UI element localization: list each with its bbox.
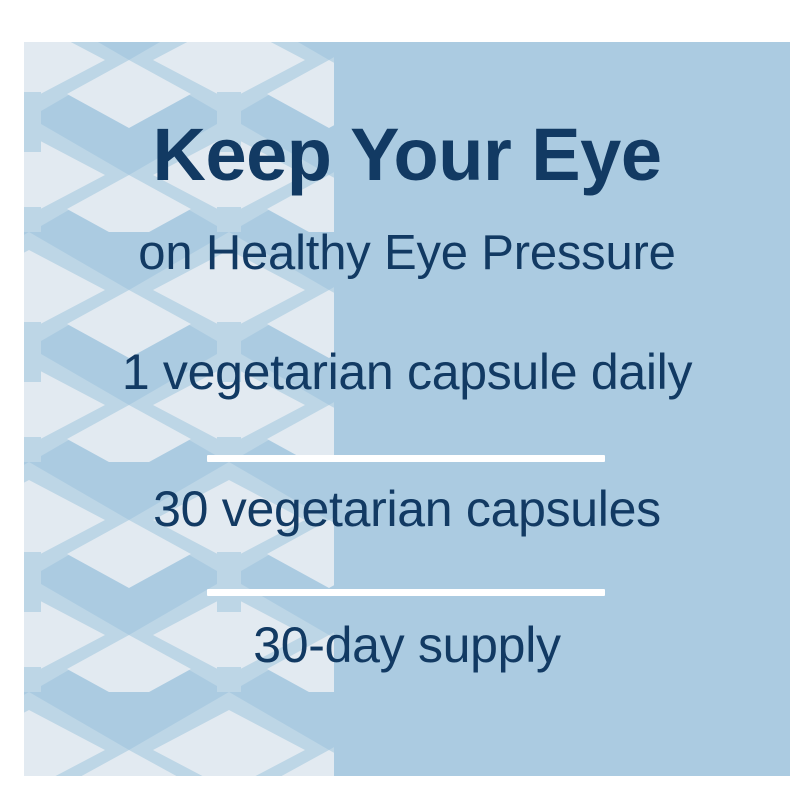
headline-title: Keep Your Eye (24, 118, 790, 192)
capsule-count-text: 30 vegetarian capsules (24, 484, 790, 534)
divider-top (207, 455, 605, 462)
product-info-card: Keep Your Eye on Healthy Eye Pressure 1 … (0, 0, 801, 801)
dosage-text: 1 vegetarian capsule daily (24, 347, 790, 397)
blue-panel: Keep Your Eye on Healthy Eye Pressure 1 … (24, 42, 790, 776)
text-content: Keep Your Eye on Healthy Eye Pressure 1 … (24, 42, 790, 776)
headline-subtitle: on Healthy Eye Pressure (24, 229, 790, 278)
supply-duration-text: 30-day supply (24, 620, 790, 670)
divider-bottom (207, 589, 605, 596)
